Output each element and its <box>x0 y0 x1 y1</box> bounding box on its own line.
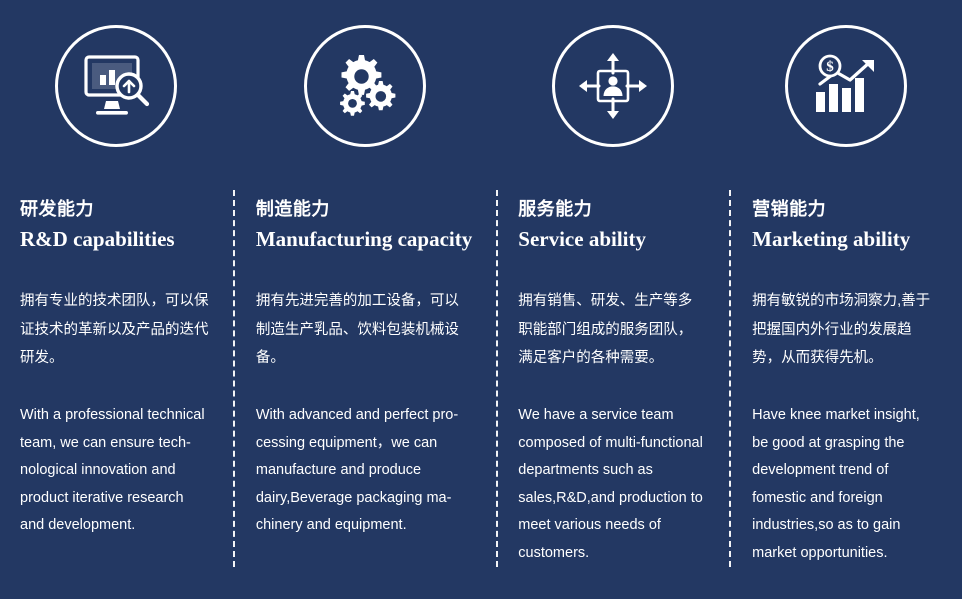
column-body-en: With advanced and perfect pro- cessing e… <box>256 402 461 540</box>
capabilities-infographic: 研发能力 R&D capabilities 拥有专业的技术团队，可以保证技术的革… <box>0 0 962 599</box>
icon-area-rd <box>0 0 233 172</box>
column-title-en: Service ability <box>518 225 705 253</box>
column-body-cn: 拥有销售、研发、生产等多职能部门组成的服务团队，满足客户的各种需要。 <box>518 287 705 372</box>
svg-text:$: $ <box>826 59 834 75</box>
column-body-cn: 拥有先进完善的加工设备，可以制造生产乳品、饮料包装机械设备。 <box>256 287 461 372</box>
column-title-cn: 服务能力 <box>518 196 705 223</box>
column-body-en: With a professional technical team, we c… <box>20 402 209 540</box>
person-four-arrows-icon <box>552 25 674 147</box>
column-manufacturing-capacity: 制造能力 Manufacturing capacity 拥有先进完善的加工设备，… <box>233 0 496 599</box>
column-rd-capabilities: 研发能力 R&D capabilities 拥有专业的技术团队，可以保证技术的革… <box>0 0 233 599</box>
column-title-cn: 制造能力 <box>256 196 472 223</box>
columns-container: 研发能力 R&D capabilities 拥有专业的技术团队，可以保证技术的革… <box>0 0 962 599</box>
column-title-cn: 研发能力 <box>20 196 209 223</box>
computer-search-icon <box>55 25 177 147</box>
column-body-en: We have a service team composed of multi… <box>518 402 705 567</box>
column-title-en: Manufacturing capacity <box>256 225 472 253</box>
column-body-cn: 拥有敏锐的市场洞察力,善于把握国内外行业的发展趋势，从而获得先机。 <box>752 287 938 372</box>
column-service-ability: 服务能力 Service ability 拥有销售、研发、生产等多职能部门组成的… <box>496 0 729 599</box>
icon-area-service <box>496 0 729 172</box>
text-area-service: 服务能力 Service ability 拥有销售、研发、生产等多职能部门组成的… <box>496 172 729 567</box>
text-area-marketing: 营销能力 Marketing ability 拥有敏锐的市场洞察力,善于把握国内… <box>729 172 962 567</box>
text-area-manufacturing: 制造能力 Manufacturing capacity 拥有先进完善的加工设备，… <box>233 172 496 540</box>
gears-icon <box>304 25 426 147</box>
column-marketing-ability: $ 营销能力 Marketing ability 拥有敏锐的市场洞察力,善于把握… <box>729 0 962 599</box>
column-body-cn: 拥有专业的技术团队，可以保证技术的革新以及产品的迭代研发。 <box>20 287 209 372</box>
column-title-cn: 营销能力 <box>752 196 938 223</box>
column-title-en: R&D capabilities <box>20 225 209 253</box>
icon-area-manufacturing <box>233 0 496 172</box>
icon-area-marketing: $ <box>729 0 962 172</box>
column-title-en: Marketing ability <box>752 225 938 253</box>
bar-chart-dollar-arrow-icon: $ <box>785 25 907 147</box>
text-area-rd: 研发能力 R&D capabilities 拥有专业的技术团队，可以保证技术的革… <box>0 172 233 540</box>
column-body-en: Have knee market insight, be good at gra… <box>752 402 938 567</box>
